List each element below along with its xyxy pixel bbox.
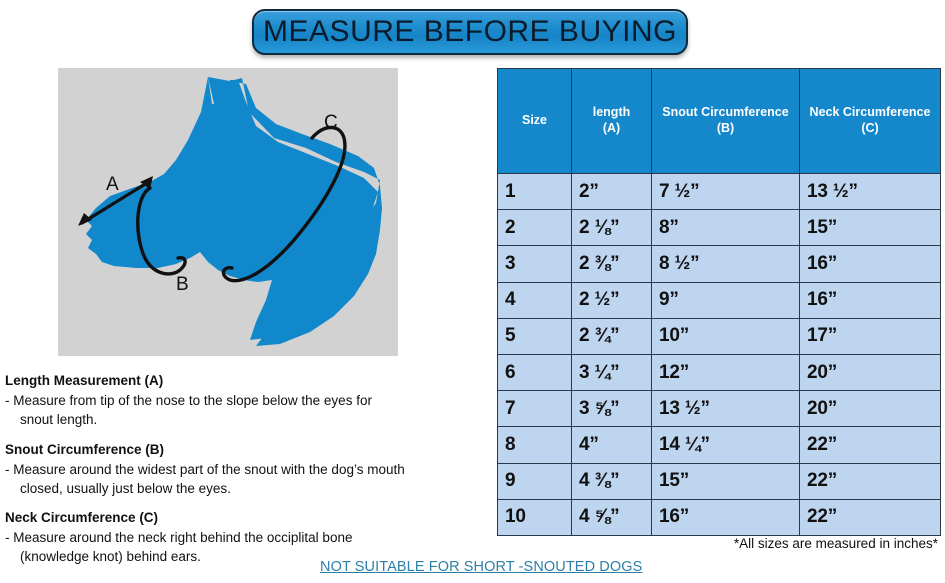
cell-length: 2 ½” bbox=[572, 282, 652, 318]
column-header-size-label: Size bbox=[522, 113, 547, 127]
instruction-snout-line2: closed, usually just below the eyes. bbox=[8, 479, 485, 498]
page-title: MEASURE BEFORE BUYING bbox=[263, 17, 677, 47]
instruction-body-length: - Measure from tip of the nose to the sl… bbox=[5, 391, 485, 429]
cell-size: 4 bbox=[498, 282, 572, 318]
column-header-size: Size bbox=[498, 69, 572, 174]
cell-snout: 8 ½” bbox=[652, 246, 800, 282]
table-row: 32 ⅜”8 ½”16” bbox=[498, 246, 941, 282]
column-header-snout-sub: (B) bbox=[717, 121, 734, 135]
column-header-neck-sub: (C) bbox=[861, 121, 878, 135]
title-banner: MEASURE BEFORE BUYING bbox=[252, 9, 688, 55]
cell-snout: 13 ½” bbox=[652, 391, 800, 427]
instruction-title-snout: Snout Circumference (B) bbox=[5, 441, 485, 459]
cell-neck: 20” bbox=[800, 354, 941, 390]
table-row: 12”7 ½”13 ½” bbox=[498, 174, 941, 210]
cell-length: 4 ⅝” bbox=[572, 499, 652, 535]
cell-snout: 16” bbox=[652, 499, 800, 535]
table-row: 94 ⅜”15”22” bbox=[498, 463, 941, 499]
cell-neck: 16” bbox=[800, 282, 941, 318]
label-b: B bbox=[176, 274, 189, 295]
not-suitable-warning: NOT SUITABLE FOR SHORT -SNOUTED DOGS bbox=[320, 559, 642, 575]
cell-snout: 8” bbox=[652, 210, 800, 246]
cell-snout: 15” bbox=[652, 463, 800, 499]
table-row: 63 ¼”12”20” bbox=[498, 354, 941, 390]
cell-snout: 7 ½” bbox=[652, 174, 800, 210]
table-row: 73 ⅝”13 ½”20” bbox=[498, 391, 941, 427]
cell-size: 2 bbox=[498, 210, 572, 246]
cell-length: 3 ⅝” bbox=[572, 391, 652, 427]
cell-length: 2 ⅛” bbox=[572, 210, 652, 246]
cell-neck: 22” bbox=[800, 463, 941, 499]
cell-length: 4 ⅜” bbox=[572, 463, 652, 499]
table-row: 22 ⅛”8”15” bbox=[498, 210, 941, 246]
cell-size: 7 bbox=[498, 391, 572, 427]
cell-snout: 14 ¼” bbox=[652, 427, 800, 463]
cell-size: 10 bbox=[498, 499, 572, 535]
size-chart-table: Size length (A) Snout Circumference (B) … bbox=[497, 68, 941, 536]
cell-size: 8 bbox=[498, 427, 572, 463]
cell-size: 9 bbox=[498, 463, 572, 499]
size-chart-page: MEASURE BEFORE BUYING A B C Length Measu… bbox=[0, 0, 945, 583]
cell-size: 3 bbox=[498, 246, 572, 282]
instruction-body-snout: - Measure around the widest part of the … bbox=[5, 460, 485, 498]
units-note: *All sizes are measured in inches* bbox=[734, 536, 938, 551]
arrow-head-a-bottom bbox=[78, 213, 92, 226]
table-body: 12”7 ½”13 ½”22 ⅛”8”15”32 ⅜”8 ½”16”42 ½”9… bbox=[498, 174, 941, 536]
table-row: 42 ½”9”16” bbox=[498, 282, 941, 318]
column-header-neck: Neck Circumference (C) bbox=[800, 69, 941, 174]
label-c: C bbox=[324, 112, 338, 133]
instruction-neck-line1: - Measure around the neck right behind t… bbox=[5, 530, 352, 545]
instruction-block-neck: Neck Circumference (C) - Measure around … bbox=[5, 509, 485, 567]
cell-size: 1 bbox=[498, 174, 572, 210]
cell-length: 2 ⅜” bbox=[572, 246, 652, 282]
title-banner-wrapper: MEASURE BEFORE BUYING bbox=[252, 9, 688, 55]
instruction-length-line2: snout length. bbox=[8, 410, 485, 429]
column-header-length-label: length bbox=[593, 105, 631, 119]
dog-head-diagram: A B C bbox=[58, 68, 398, 356]
cell-neck: 22” bbox=[800, 499, 941, 535]
table-header: Size length (A) Snout Circumference (B) … bbox=[498, 69, 941, 174]
cell-snout: 9” bbox=[652, 282, 800, 318]
table-row: 52 ¾”10”17” bbox=[498, 318, 941, 354]
cell-length: 4” bbox=[572, 427, 652, 463]
cell-length: 2 ¾” bbox=[572, 318, 652, 354]
cell-neck: 15” bbox=[800, 210, 941, 246]
cell-neck: 13 ½” bbox=[800, 174, 941, 210]
measurement-instructions: Length Measurement (A) - Measure from ti… bbox=[5, 372, 485, 578]
column-header-snout: Snout Circumference (B) bbox=[652, 69, 800, 174]
cell-neck: 16” bbox=[800, 246, 941, 282]
cell-snout: 12” bbox=[652, 354, 800, 390]
label-a: A bbox=[106, 174, 119, 195]
table-row: 104 ⅝”16”22” bbox=[498, 499, 941, 535]
instruction-title-length: Length Measurement (A) bbox=[5, 372, 485, 390]
table-row: 84”14 ¼”22” bbox=[498, 427, 941, 463]
cell-neck: 17” bbox=[800, 318, 941, 354]
instruction-length-line1: - Measure from tip of the nose to the sl… bbox=[5, 393, 372, 408]
instruction-title-neck: Neck Circumference (C) bbox=[5, 509, 485, 527]
cell-snout: 10” bbox=[652, 318, 800, 354]
instruction-block-snout: Snout Circumference (B) - Measure around… bbox=[5, 441, 485, 499]
cell-length: 2” bbox=[572, 174, 652, 210]
table-header-row: Size length (A) Snout Circumference (B) … bbox=[498, 69, 941, 174]
column-header-length-sub: (A) bbox=[603, 121, 620, 135]
column-header-length: length (A) bbox=[572, 69, 652, 174]
instruction-block-length: Length Measurement (A) - Measure from ti… bbox=[5, 372, 485, 430]
column-header-neck-label: Neck Circumference bbox=[810, 105, 931, 119]
cell-neck: 22” bbox=[800, 427, 941, 463]
column-header-snout-label: Snout Circumference bbox=[662, 105, 788, 119]
dog-illustration-panel: A B C bbox=[58, 68, 398, 356]
cell-length: 3 ¼” bbox=[572, 354, 652, 390]
cell-neck: 20” bbox=[800, 391, 941, 427]
cell-size: 5 bbox=[498, 318, 572, 354]
instruction-snout-line1: - Measure around the widest part of the … bbox=[5, 462, 405, 477]
cell-size: 6 bbox=[498, 354, 572, 390]
